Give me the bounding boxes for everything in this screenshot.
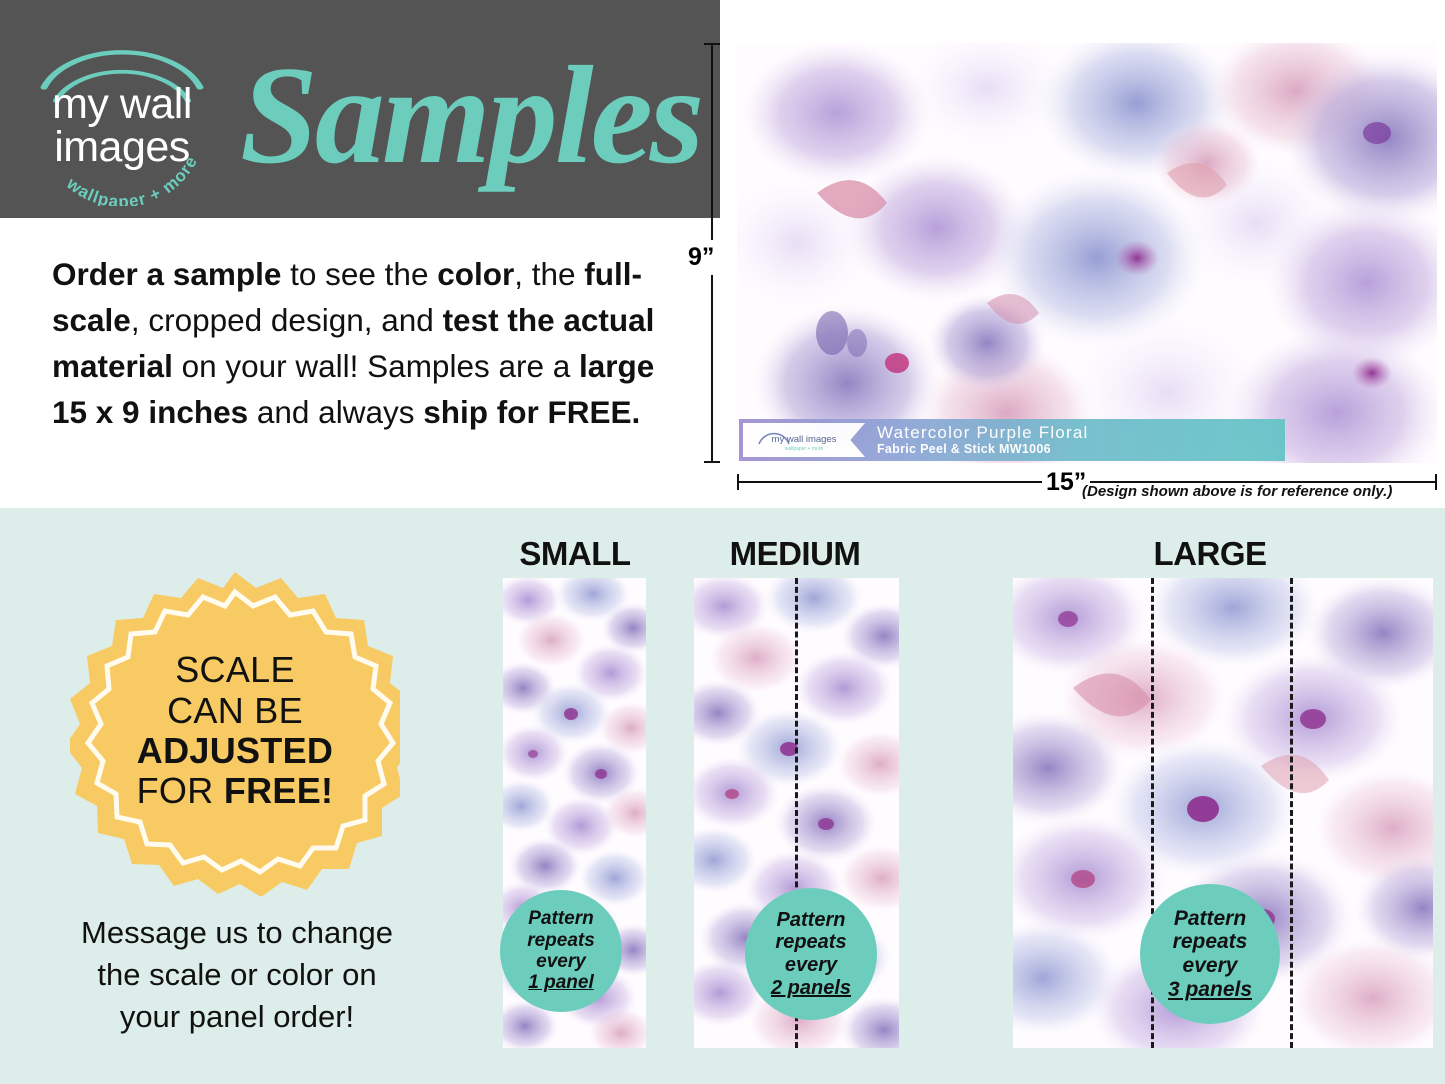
scale-header-small: SMALL — [500, 535, 650, 573]
reference-note: (Design shown above is for reference onl… — [1082, 483, 1392, 500]
message-block: Message us to change the scale or color … — [42, 912, 432, 1038]
intro-text-5: and always — [248, 394, 423, 430]
scale-header-large: LARGE — [1080, 535, 1340, 573]
intro-paragraph: Order a sample to see the color, the ful… — [52, 252, 672, 436]
bubble-large-line-1: Pattern — [1174, 907, 1246, 931]
badge-line-4-a: FOR — [137, 770, 224, 811]
height-dimension-label: 9” — [686, 240, 716, 275]
intro-bold-1: Order a sample — [52, 256, 281, 292]
bubble-medium-line-4: 2 panels — [771, 977, 851, 1000]
height-dimension-cap-bottom — [704, 461, 720, 463]
badge-line-4: FOR FREE! — [137, 771, 334, 811]
samples-infographic: my wall images wallpaper + more Samples … — [0, 0, 1445, 1084]
watercolor-floral-art — [737, 43, 1437, 463]
label-logo-text: my wall images — [772, 434, 837, 445]
scale-free-badge: SCALE CAN BE ADJUSTED FOR FREE! — [70, 566, 400, 896]
repeat-bubble-medium: Pattern repeats every 2 panels — [745, 888, 877, 1020]
width-dimension-cap-left — [737, 474, 739, 490]
bubble-large-line-2: repeats — [1173, 930, 1248, 954]
badge-line-4-b: FREE! — [224, 770, 334, 811]
width-dimension-cap-right — [1435, 474, 1437, 490]
svg-text:wallpaper + more: wallpaper + more — [785, 446, 824, 452]
logo-line2: images — [54, 123, 190, 171]
repeat-bubble-large: Pattern repeats every 3 panels — [1140, 884, 1280, 1024]
badge-line-2: CAN BE — [167, 691, 303, 731]
bubble-small-line-3: every — [536, 951, 586, 972]
intro-bold-2: color — [437, 256, 514, 292]
bubble-large-line-3: every — [1183, 954, 1238, 978]
height-dimension-cap-top — [704, 43, 720, 45]
bubble-medium-line-2: repeats — [775, 931, 846, 954]
badge-text: SCALE CAN BE ADJUSTED FOR FREE! — [70, 566, 400, 896]
intro-text-3: , cropped design, and — [131, 302, 443, 338]
message-line-3: your panel order! — [42, 996, 432, 1038]
samples-wordmark: Samples — [232, 22, 702, 212]
bubble-large-line-4: 3 panels — [1168, 978, 1252, 1002]
badge-line-1: SCALE — [175, 650, 295, 690]
sample-pattern-image: my wall images wallpaper + more Watercol… — [737, 43, 1437, 463]
intro-text-4: on your wall! Samples are a — [173, 348, 579, 384]
product-label: my wall images wallpaper + more Watercol… — [739, 419, 1285, 461]
panel-divider-large-2 — [1290, 578, 1293, 1048]
brand-logo: my wall images wallpaper + more — [22, 26, 222, 206]
sample-preview: my wall images wallpaper + more Watercol… — [737, 43, 1437, 463]
intro-bold-6: ship for FREE. — [423, 394, 640, 430]
intro-text-1: to see the — [281, 256, 437, 292]
scale-header-medium: MEDIUM — [690, 535, 900, 573]
badge-line-3: ADJUSTED — [137, 731, 333, 771]
logo-line1: my wall — [52, 80, 192, 128]
product-name: Watercolor Purple Floral — [877, 424, 1088, 442]
bubble-small-line-1: Pattern — [528, 908, 593, 929]
message-line-1: Message us to change — [42, 912, 432, 954]
intro-text-2: , the — [514, 256, 584, 292]
bubble-small-line-2: repeats — [527, 930, 595, 951]
samples-script-text: Samples — [240, 38, 701, 193]
repeat-bubble-small: Pattern repeats every 1 panel — [500, 890, 622, 1012]
product-sku: Fabric Peel & Stick MW1006 — [877, 443, 1088, 456]
label-brand-logo: my wall images wallpaper + more — [743, 423, 865, 457]
bubble-medium-line-1: Pattern — [777, 909, 846, 932]
bubble-medium-line-3: every — [785, 954, 837, 977]
bubble-small-line-4: 1 panel — [528, 972, 593, 993]
message-line-2: the scale or color on — [42, 954, 432, 996]
